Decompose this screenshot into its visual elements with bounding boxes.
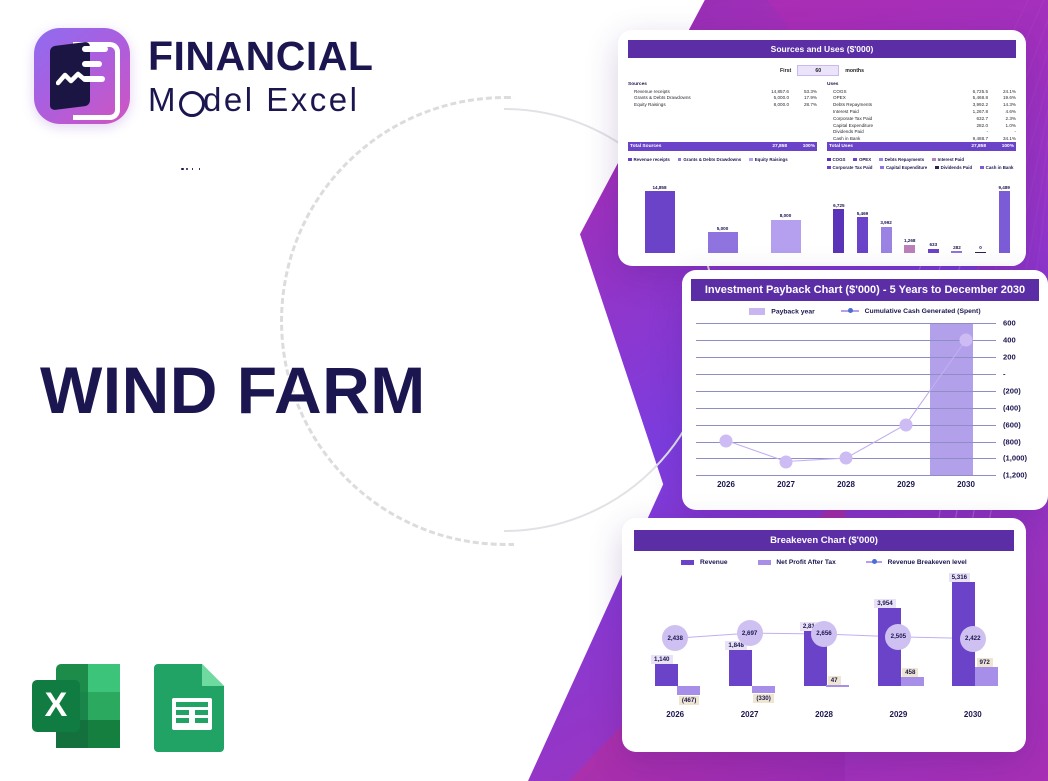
breakeven-x-axis: 20262027202820292030 (638, 710, 1010, 719)
legend-payback-year: Payback year (749, 308, 814, 315)
bar: 5,469 (857, 211, 868, 253)
bar-value-label: 1,268 (904, 238, 916, 243)
data-point (900, 418, 913, 431)
table-row: Revenue receipts14,857.653.3% (628, 88, 817, 95)
brand-line-2: M del Excel (148, 83, 373, 116)
total-row: Total Uses27,858100% (827, 142, 1016, 151)
legend-item: COGS (827, 157, 845, 162)
card-sources-and-uses[interactable]: Sources and Uses ($'000) First 60 months… (618, 30, 1026, 266)
page-title: WIND FARM (40, 352, 426, 428)
bar: 282 (951, 245, 962, 253)
table-row: Equity Raisings8,000.028.7% (628, 101, 817, 108)
table-row: Grants & Debts Drawdowns5,000.017.9% (628, 95, 817, 102)
brand-line-1: FINANCIAL (148, 36, 373, 77)
net-profit-value-label: 972 (977, 658, 993, 667)
net-profit-bar (826, 685, 849, 687)
svg-text:X: X (45, 686, 68, 724)
period-selector[interactable]: First 60 months (618, 65, 1026, 76)
x-tick-label: 2029 (876, 480, 936, 489)
brand-logo: FINANCIAL M del Excel (34, 28, 373, 124)
total-row: Total Sources27,858100% (628, 142, 817, 151)
legend-breakeven-level: Revenue Breakeven level (866, 559, 967, 566)
net-profit-value-label: (467) (679, 696, 699, 705)
bar-value-label: 5,469 (857, 211, 869, 216)
data-point (960, 334, 973, 347)
breakeven-plot[interactable]: 1,140(467)1,848(330)2,814473,9544585,316… (638, 572, 1010, 704)
legend-item: Corporate Tax Paid (827, 165, 872, 170)
breakeven-data-point: 2,422 (960, 626, 986, 652)
bar-value-label: 0 (979, 245, 982, 250)
sources-table: SourcesRevenue receipts14,857.653.3%Gran… (628, 81, 817, 151)
sources-uses-title: Sources and Uses ($'000) (628, 40, 1016, 58)
legend-item: Dividends Paid (935, 165, 972, 170)
legend-item: Debts Repayments (879, 157, 924, 162)
breakeven-data-point: 2,697 (737, 620, 763, 646)
bar: 8,000 (771, 213, 801, 253)
y-tick-label: 400 (1003, 336, 1016, 345)
bar-value-label: 9,489 (998, 185, 1010, 190)
payback-title: Investment Payback Chart ($'000) - 5 Yea… (691, 279, 1039, 301)
x-tick-label: 2029 (861, 710, 935, 719)
bar: 14,858 (645, 185, 675, 254)
app-logo-icon (34, 28, 130, 124)
section-header: Uses (827, 81, 1016, 88)
bar: 0 (975, 245, 986, 253)
y-tick-label: (800) (1003, 437, 1021, 446)
legend-item: Cash in Bank (980, 165, 1013, 170)
table-row: Cash in Bank9,488.734.1% (827, 135, 1016, 142)
y-tick-label: (600) (1003, 420, 1021, 429)
x-tick-label: 2027 (756, 480, 816, 489)
google-sheets-icon (152, 660, 230, 752)
revenue-bar (729, 650, 752, 686)
bar: 6,725 (833, 203, 844, 253)
sources-bars: 14,8585,0008,000 (628, 175, 817, 253)
net-profit-swatch (758, 560, 771, 565)
x-tick-label: 2030 (936, 480, 996, 489)
breakeven-data-point: 2,656 (811, 621, 837, 647)
x-tick-label: 2028 (816, 480, 876, 489)
bar-value-label: 282 (953, 245, 961, 250)
bar-value-label: 633 (929, 242, 937, 247)
net-profit-value-label: 47 (828, 676, 841, 685)
revenue-value-label: 5,316 (949, 573, 970, 582)
period-months-input[interactable]: 60 (797, 65, 839, 76)
breakeven-level-swatch (866, 561, 882, 563)
breakeven-title: Breakeven Chart ($'000) (634, 530, 1014, 551)
bar: 3,992 (881, 220, 892, 253)
sources-bar-chart[interactable]: Revenue receiptsGrants & Debts Drawdowns… (628, 157, 817, 253)
y-tick-label: - (1003, 369, 1006, 378)
uses-bars: 6,7255,4693,9921,26863328209,489 (827, 175, 1016, 253)
breakeven-legend: Revenue Net Profit After Tax Revenue Bre… (622, 559, 1026, 566)
y-tick-label: (1,000) (1003, 454, 1027, 463)
uses-legend: COGSOPEXDebts RepaymentsInterest PaidCor… (827, 157, 1016, 170)
bar-value-label: 3,992 (880, 220, 892, 225)
legend-item: Revenue receipts (628, 157, 670, 162)
revenue-value-label: 3,954 (874, 599, 895, 608)
breakeven-data-point: 2,438 (662, 625, 688, 651)
y-tick-label: 600 (1003, 319, 1016, 328)
uses-bar-chart[interactable]: COGSOPEXDebts RepaymentsInterest PaidCor… (827, 157, 1016, 253)
payback-year-swatch (749, 308, 765, 315)
bar: 9,489 (999, 185, 1010, 254)
table-row: COGS6,725.524.1% (827, 88, 1016, 95)
cumulative-cash-swatch (841, 310, 859, 312)
revenue-bar (655, 664, 678, 686)
data-point (780, 455, 793, 468)
sources-column: SourcesRevenue receipts14,857.653.3%Gran… (628, 81, 817, 151)
revenue-swatch (681, 560, 694, 565)
table-row: Dividends Paid-- (827, 128, 1016, 135)
brand-line-2-pre: M (148, 83, 178, 116)
net-profit-bar (975, 667, 998, 686)
x-tick-label: 2026 (696, 480, 756, 489)
x-tick-label: 2028 (787, 710, 861, 719)
payback-x-axis: 20262027202820292030 (696, 480, 996, 489)
poster-canvas: FINANCIAL M del Excel WIND FARM (0, 0, 1048, 781)
y-tick-label: (1,200) (1003, 471, 1027, 480)
legend-item: Interest Paid (932, 157, 964, 162)
bar-value-label: 5,000 (717, 226, 729, 231)
legend-net-profit: Net Profit After Tax (758, 559, 836, 566)
y-tick-label: (400) (1003, 403, 1021, 412)
uses-column: UsesCOGS6,725.524.1%OPEX5,468.819.6%Debt… (827, 81, 1016, 151)
period-suffix: months (845, 68, 864, 74)
uses-table: UsesCOGS6,725.524.1%OPEX5,468.819.6%Debt… (827, 81, 1016, 151)
table-row: Corporate Tax Paid632.72.3% (827, 115, 1016, 122)
legend-cumulative-cash: Cumulative Cash Generated (Spent) (841, 308, 981, 315)
net-profit-bar (901, 677, 924, 686)
table-row: Capital Expenditure282.01.0% (827, 122, 1016, 129)
net-profit-value-label: (330) (753, 694, 773, 703)
table-row: Debts Repayments3,992.214.3% (827, 101, 1016, 108)
x-tick-label: 2027 (712, 710, 786, 719)
revenue-value-label: 1,140 (651, 655, 672, 664)
stacked-bars-o-icon (178, 83, 203, 116)
bar: 5,000 (708, 226, 738, 253)
payback-plot[interactable]: 600400200-(200)(400)(600)(800)(1,000)(1,… (696, 323, 996, 475)
y-tick-label: (200) (1003, 386, 1021, 395)
bar: 633 (928, 242, 939, 253)
data-point (720, 434, 733, 447)
legend-item: OPEX (853, 157, 871, 162)
table-row: Interest Paid1,267.84.6% (827, 108, 1016, 115)
net-profit-bar (752, 686, 775, 693)
x-tick-label: 2030 (936, 710, 1010, 719)
sources-legend: Revenue receiptsGrants & Debts Drawdowns… (628, 157, 817, 162)
section-header: Sources (628, 81, 817, 88)
legend-item: Capital Expenditure (880, 165, 927, 170)
bar-value-label: 6,725 (833, 203, 845, 208)
platform-icon-group: X (30, 660, 230, 752)
net-profit-value-label: 458 (902, 668, 918, 677)
y-tick-label: 200 (1003, 353, 1016, 362)
bar: 1,268 (904, 238, 915, 253)
bar-value-label: 14,858 (652, 185, 666, 190)
bar-value-label: 8,000 (780, 213, 792, 218)
card-breakeven[interactable]: Breakeven Chart ($'000) Revenue Net Prof… (622, 518, 1026, 752)
microsoft-excel-icon: X (30, 660, 124, 752)
legend-item: Equity Raisings (749, 157, 787, 162)
table-row: OPEX5,468.819.6% (827, 95, 1016, 102)
x-tick-label: 2026 (638, 710, 712, 719)
payback-legend: Payback year Cumulative Cash Generated (… (682, 308, 1048, 315)
period-prefix: First (780, 68, 791, 74)
brand-line-2-post: del Excel (203, 83, 359, 116)
list-lines-icon (82, 46, 116, 106)
breakeven-data-point: 2,505 (885, 624, 911, 650)
legend-revenue: Revenue (681, 559, 727, 566)
legend-item: Grants & Debts Drawdowns (678, 157, 741, 162)
data-point (840, 452, 853, 465)
card-investment-payback[interactable]: Investment Payback Chart ($'000) - 5 Yea… (682, 270, 1048, 510)
net-profit-bar (677, 686, 700, 695)
